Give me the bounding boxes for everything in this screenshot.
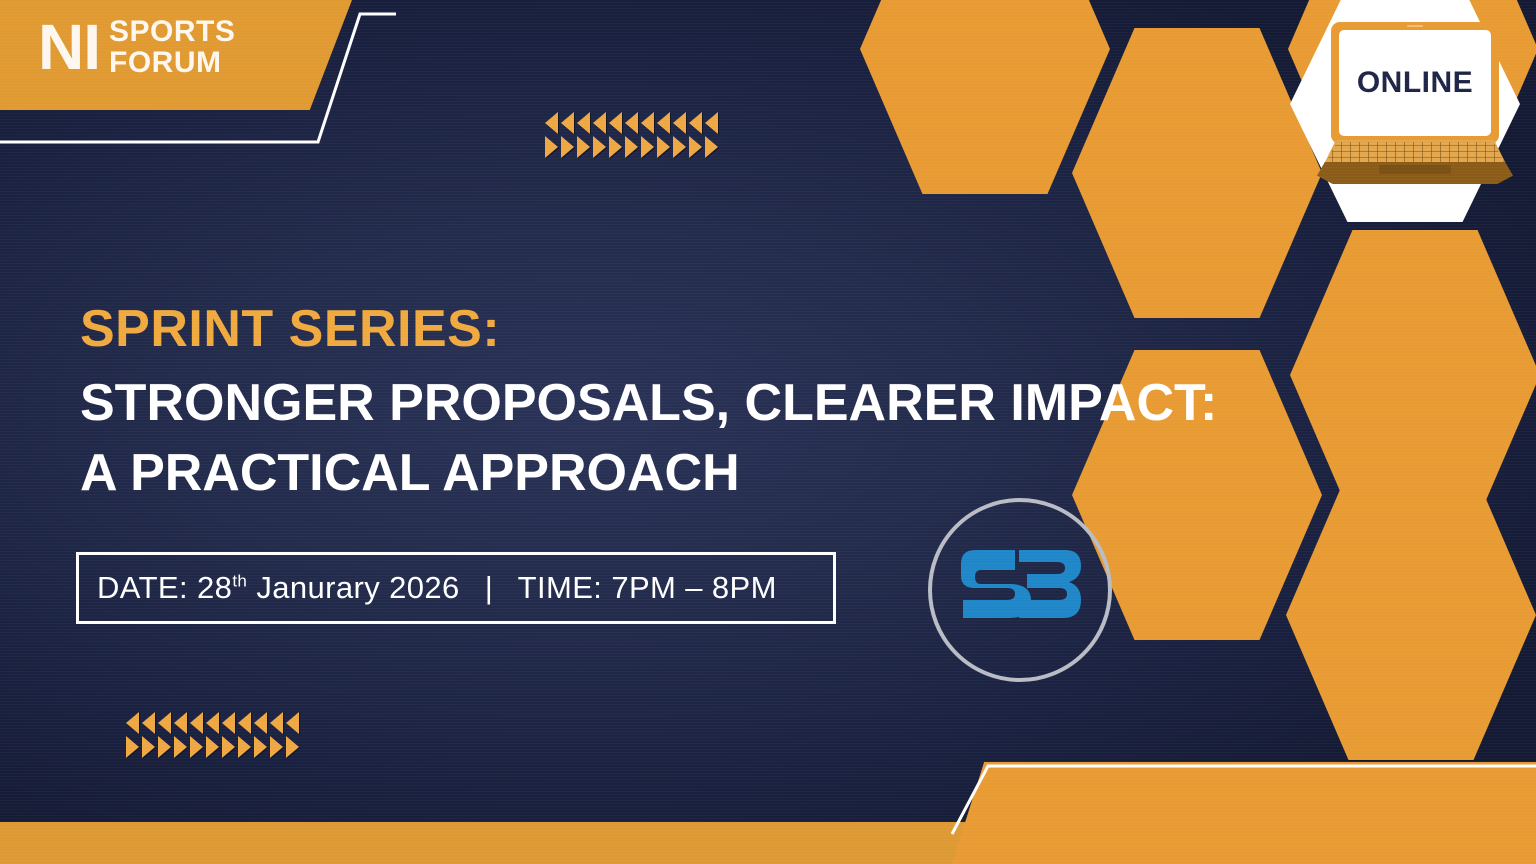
chevron-left-icon <box>625 112 638 134</box>
chevron-right-icon <box>142 736 155 758</box>
chevron-left-icon <box>641 112 654 134</box>
eyebrow-title: SPRINT SERIES: <box>80 300 1310 358</box>
logo-sports-text: SPORTS <box>109 16 235 47</box>
chevron-row-left <box>126 712 302 734</box>
chevron-left-icon <box>577 112 590 134</box>
laptop-camera-icon <box>1407 25 1423 27</box>
datetime-text: DATE: 28th Janurary 2026 | TIME: 7PM – 8… <box>79 570 777 606</box>
logo-ni-text: NI <box>38 16 100 78</box>
date-rest: Janurary 2026 <box>256 570 459 605</box>
chevron-left-icon <box>126 712 139 734</box>
chevron-left-icon <box>142 712 155 734</box>
time-label: TIME: <box>518 570 603 605</box>
chevron-right-icon <box>673 136 686 158</box>
chevron-left-icon <box>657 112 670 134</box>
chevron-cluster-top <box>545 112 721 158</box>
chevron-right-icon <box>222 736 235 758</box>
chevron-right-icon <box>641 136 654 158</box>
logo-forum-text: FORUM <box>109 47 235 78</box>
chevron-right-icon <box>206 736 219 758</box>
chevron-left-icon <box>561 112 574 134</box>
chevron-left-icon <box>174 712 187 734</box>
online-laptop-badge: ONLINE <box>1317 22 1513 192</box>
chevron-cluster-bottom <box>126 712 302 758</box>
brand-logo: NI SPORTS FORUM <box>38 16 235 78</box>
chevron-left-icon <box>673 112 686 134</box>
chevron-row-right <box>545 136 721 158</box>
laptop-trackpad <box>1379 165 1451 174</box>
main-title: STRONGER PROPOSALS, CLEARER IMPACT: A PR… <box>80 368 1310 508</box>
main-title-line-1: STRONGER PROPOSALS, CLEARER IMPACT: <box>80 368 1310 438</box>
chevron-right-icon <box>126 736 139 758</box>
chevron-left-icon <box>593 112 606 134</box>
laptop-keys <box>1323 142 1507 164</box>
date-suffix: th <box>232 572 247 591</box>
chevron-right-icon <box>545 136 558 158</box>
chevron-right-icon <box>625 136 638 158</box>
chevron-right-icon <box>174 736 187 758</box>
chevron-right-icon <box>689 136 702 158</box>
chevron-left-icon <box>158 712 171 734</box>
s3-mark-icon <box>957 544 1083 636</box>
chevron-right-icon <box>657 136 670 158</box>
date-label: DATE: <box>97 570 188 605</box>
laptop-lid: ONLINE <box>1331 22 1499 144</box>
chevron-left-icon <box>545 112 558 134</box>
chevron-right-icon <box>254 736 267 758</box>
datetime-bar: DATE: 28th Janurary 2026 | TIME: 7PM – 8… <box>76 552 836 624</box>
footer-outline-accent <box>930 748 1536 838</box>
chevron-left-icon <box>270 712 283 734</box>
s3-logo <box>928 498 1112 682</box>
hexagon-shape <box>1072 28 1322 318</box>
chevron-left-icon <box>222 712 235 734</box>
online-label: ONLINE <box>1357 66 1473 100</box>
datetime-separator: | <box>469 570 509 605</box>
chevron-row-left <box>545 112 721 134</box>
chevron-right-icon <box>705 136 718 158</box>
chevron-left-icon <box>286 712 299 734</box>
hexagon-shape <box>860 0 1110 194</box>
chevron-right-icon <box>577 136 590 158</box>
chevron-row-right <box>126 736 302 758</box>
chevron-left-icon <box>238 712 251 734</box>
laptop-screen: ONLINE <box>1339 30 1491 136</box>
promo-banner: ONLINE NI SPORTS FORUM <box>0 0 1536 864</box>
chevron-right-icon <box>158 736 171 758</box>
chevron-left-icon <box>254 712 267 734</box>
main-title-line-2: A PRACTICAL APPROACH <box>80 438 1310 508</box>
headline-block: SPRINT SERIES: STRONGER PROPOSALS, CLEAR… <box>80 300 1310 508</box>
chevron-left-icon <box>206 712 219 734</box>
chevron-right-icon <box>238 736 251 758</box>
chevron-right-icon <box>190 736 203 758</box>
chevron-left-icon <box>705 112 718 134</box>
bottom-band-left <box>0 822 985 864</box>
chevron-right-icon <box>270 736 283 758</box>
chevron-right-icon <box>561 136 574 158</box>
time-value: 7PM – 8PM <box>611 570 777 605</box>
hexagon-shape <box>1286 470 1536 760</box>
chevron-left-icon <box>689 112 702 134</box>
chevron-right-icon <box>593 136 606 158</box>
chevron-right-icon <box>609 136 622 158</box>
chevron-left-icon <box>609 112 622 134</box>
logo-wordmark: SPORTS FORUM <box>109 16 235 78</box>
chevron-right-icon <box>286 736 299 758</box>
date-day: 28 <box>197 570 232 605</box>
chevron-left-icon <box>190 712 203 734</box>
